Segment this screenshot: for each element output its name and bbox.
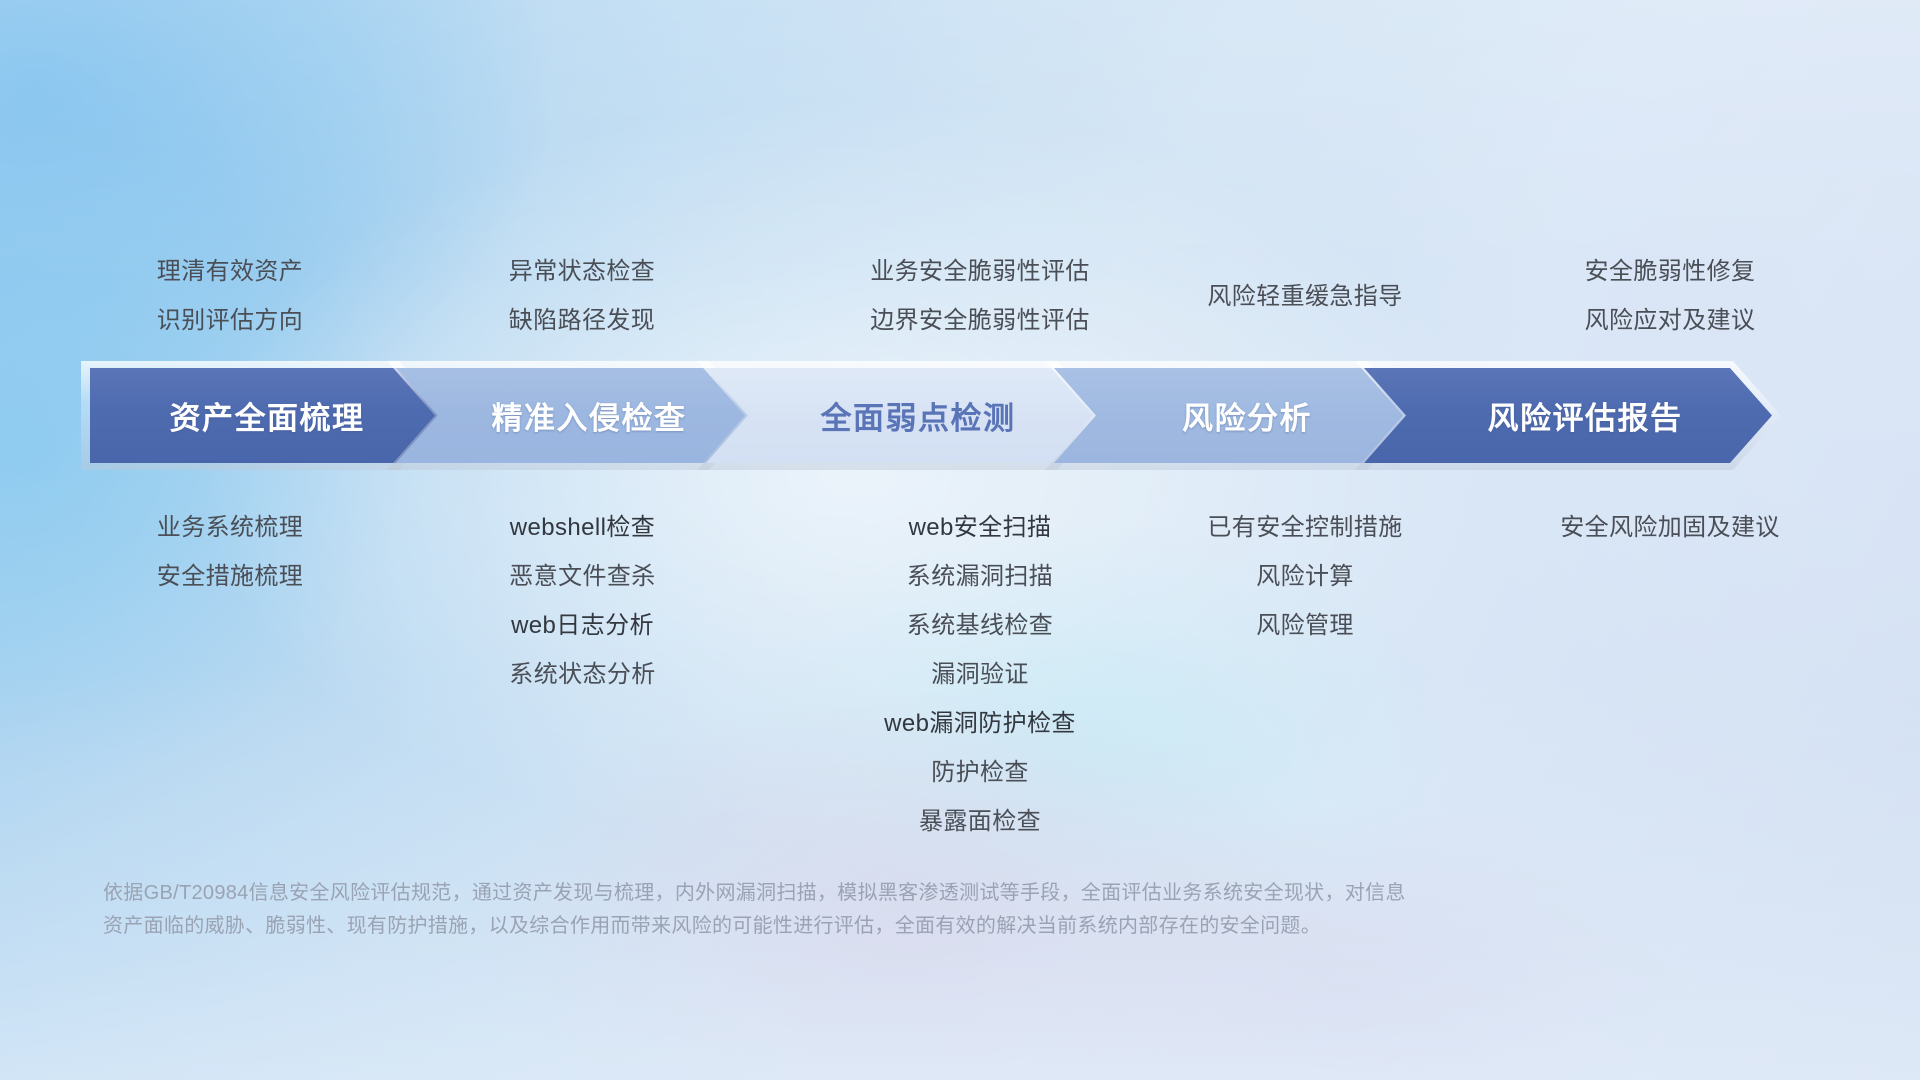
bottom-item: 风险管理 (1256, 601, 1354, 650)
stage-arrow-label: 资产全面梳理 (164, 393, 365, 438)
top-item: 异常状态检查 (509, 247, 655, 296)
bottom-item: 系统基线检查 (907, 601, 1053, 650)
bottom-item: 暴露面检查 (919, 797, 1041, 846)
bottom-item: 漏洞验证 (931, 650, 1029, 699)
stage-arrow-label: 风险分析 (1148, 393, 1312, 438)
stage-top-items-risk-analysis: 风险轻重缓急指导 (1135, 272, 1475, 321)
top-item: 边界安全脆弱性评估 (870, 296, 1090, 345)
top-item: 理清有效资产 (157, 247, 303, 296)
stage-arrow-weakness-detection[interactable]: 全面弱点检测 (706, 368, 1096, 463)
stage-bottom-items-risk-report: 安全风险加固及建议 (1490, 503, 1850, 552)
stage-arrow-intrusion-check[interactable]: 精准入侵检查 (396, 368, 748, 463)
bottom-item: 系统漏洞扫描 (907, 552, 1053, 601)
footer-line: 资产面临的威胁、脆弱性、现有防护措施，以及综合作用而带来风险的可能性进行评估，全… (103, 910, 1723, 943)
top-item: 风险应对及建议 (1585, 296, 1756, 345)
stage-arrow-asset-inventory[interactable]: 资产全面梳理 (90, 368, 438, 463)
bottom-item: web漏洞防护检查 (884, 699, 1076, 748)
stage-bottom-items-asset-inventory: 业务系统梳理 安全措施梳理 (80, 503, 380, 601)
bottom-item: 已有安全控制措施 (1207, 503, 1402, 552)
stage-arrow-label: 全面弱点检测 (787, 393, 1016, 438)
stage-bottom-items-risk-analysis: 已有安全控制措施 风险计算 风险管理 (1135, 503, 1475, 650)
stage-top-items-risk-report: 安全脆弱性修复 风险应对及建议 (1500, 247, 1840, 345)
footer-description: 依据GB/T20984信息安全风险评估规范，通过资产发现与梳理，内外网漏洞扫描，… (103, 877, 1723, 943)
stage-bottom-items-intrusion-check: webshell检查 恶意文件查杀 web日志分析 系统状态分析 (430, 503, 735, 699)
stage-top-items-intrusion-check: 异常状态检查 缺陷路径发现 (432, 247, 732, 345)
bottom-item: 安全措施梳理 (157, 552, 303, 601)
bottom-item: 系统状态分析 (509, 650, 655, 699)
bottom-item: 恶意文件查杀 (509, 552, 655, 601)
stage-arrow-risk-report[interactable]: 风险评估报告 (1364, 368, 1772, 463)
stage-top-items-weakness-detection: 业务安全脆弱性评估 边界安全脆弱性评估 (790, 247, 1170, 345)
bottom-item: 防护检查 (931, 748, 1029, 797)
bottom-item: 安全风险加固及建议 (1560, 503, 1780, 552)
bottom-item: web安全扫描 (909, 503, 1052, 552)
bottom-item: 风险计算 (1256, 552, 1354, 601)
stage-arrow-label: 精准入侵检查 (458, 393, 687, 438)
stage-top-items-asset-inventory: 理清有效资产 识别评估方向 (80, 247, 380, 345)
bottom-item: web日志分析 (511, 601, 654, 650)
top-item: 业务安全脆弱性评估 (870, 247, 1090, 296)
stage-arrow-risk-analysis[interactable]: 风险分析 (1054, 368, 1406, 463)
footer-line: 依据GB/T20984信息安全风险评估规范，通过资产发现与梳理，内外网漏洞扫描，… (103, 877, 1723, 910)
bottom-item: webshell检查 (510, 503, 655, 552)
bottom-item: 业务系统梳理 (157, 503, 303, 552)
stage-arrow-label: 风险评估报告 (1454, 393, 1683, 438)
top-item: 风险轻重缓急指导 (1207, 272, 1402, 321)
top-item: 识别评估方向 (157, 296, 303, 345)
stage-bottom-items-weakness-detection: web安全扫描 系统漏洞扫描 系统基线检查 漏洞验证 web漏洞防护检查 防护检… (790, 503, 1170, 846)
slide-canvas: 理清有效资产 识别评估方向 异常状态检查 缺陷路径发现 业务安全脆弱性评估 边界… (0, 0, 1920, 1080)
top-item: 缺陷路径发现 (509, 296, 655, 345)
top-item: 安全脆弱性修复 (1585, 247, 1756, 296)
process-diagram: 理清有效资产 识别评估方向 异常状态检查 缺陷路径发现 业务安全脆弱性评估 边界… (0, 0, 1920, 1080)
process-stage-band: 资产全面梳理 精准入侵检查 全面弱点检测 风险分析 风险评估报告 (90, 368, 1856, 463)
